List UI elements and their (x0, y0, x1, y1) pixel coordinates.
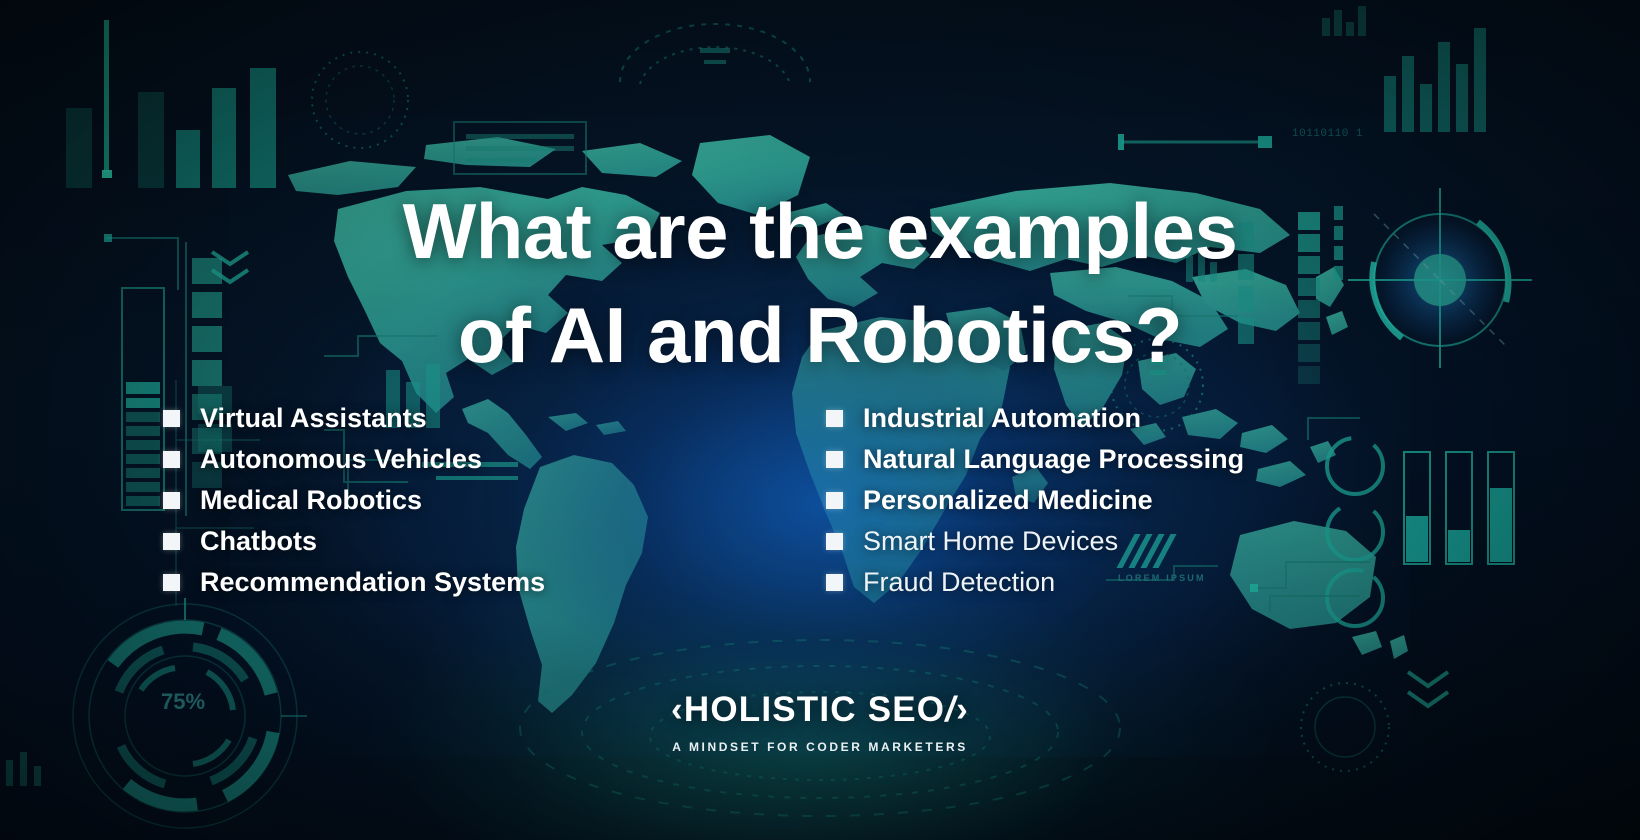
list-item: Industrial Automation (826, 398, 1244, 439)
logo-open-bracket: ‹ (671, 690, 684, 729)
bullet-square-icon (826, 492, 843, 509)
logo-close-bracket: › (956, 690, 969, 729)
logo-slash: / (945, 690, 956, 729)
infographic-canvas: 75% (0, 0, 1640, 840)
list-item: Smart Home Devices (826, 521, 1244, 562)
examples-column-left: Virtual Assistants Autonomous Vehicles M… (163, 398, 545, 603)
headline-line-1: What are the examples (403, 187, 1238, 275)
list-item-label: Personalized Medicine (863, 487, 1153, 514)
bullet-square-icon (826, 410, 843, 427)
list-item-label: Chatbots (200, 528, 317, 555)
list-item-label: Recommendation Systems (200, 569, 545, 596)
list-item-label: Autonomous Vehicles (200, 446, 482, 473)
bullet-square-icon (163, 451, 180, 468)
list-item: Natural Language Processing (826, 439, 1244, 480)
list-item: Recommendation Systems (163, 562, 545, 603)
brand-tagline: A MINDSET FOR CODER MARKETERS (0, 740, 1640, 754)
bullet-square-icon (826, 451, 843, 468)
list-item-label: Medical Robotics (200, 487, 422, 514)
content-layer: What are the examples of AI and Robotics… (0, 0, 1640, 840)
page-title: What are the examples of AI and Robotics… (0, 180, 1640, 387)
list-item: Personalized Medicine (826, 480, 1244, 521)
brand-logo-block: ‹HOLISTIC SEO/› A MINDSET FOR CODER MARK… (0, 690, 1640, 754)
list-item-label: Virtual Assistants (200, 405, 427, 432)
bullet-square-icon (826, 533, 843, 550)
headline-line-2: of AI and Robotics? (0, 284, 1640, 388)
bullet-square-icon (163, 533, 180, 550)
list-item-label: Fraud Detection (863, 569, 1055, 596)
list-item-label: Industrial Automation (863, 405, 1141, 432)
bullet-square-icon (826, 574, 843, 591)
list-item: Fraud Detection (826, 562, 1244, 603)
examples-column-right: Industrial Automation Natural Language P… (826, 398, 1244, 603)
bullet-square-icon (163, 574, 180, 591)
list-item-label: Smart Home Devices (863, 528, 1118, 555)
list-item: Virtual Assistants (163, 398, 545, 439)
list-item-label: Natural Language Processing (863, 446, 1244, 473)
bullet-square-icon (163, 492, 180, 509)
list-item: Medical Robotics (163, 480, 545, 521)
examples-columns: Virtual Assistants Autonomous Vehicles M… (0, 398, 1640, 608)
logo-text: HOLISTIC SEO (684, 690, 945, 729)
list-item: Chatbots (163, 521, 545, 562)
brand-logo-mark: ‹HOLISTIC SEO/› (0, 690, 1640, 730)
bullet-square-icon (163, 410, 180, 427)
list-item: Autonomous Vehicles (163, 439, 545, 480)
